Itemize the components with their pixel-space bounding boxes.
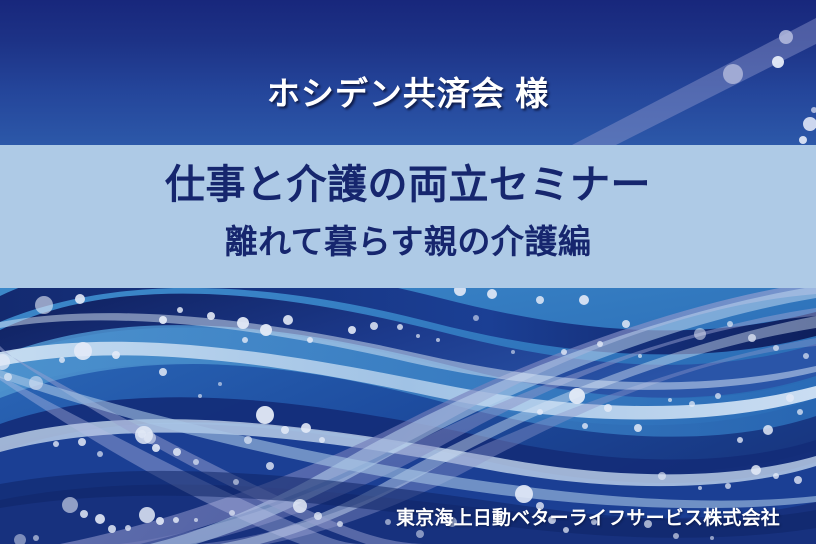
client-name: ホシデン共済会 様 bbox=[0, 77, 816, 110]
title-band: 仕事と介護の両立セミナー 離れて暮らす親の介護編 bbox=[0, 145, 816, 288]
client-banner: ホシデン共済会 様 bbox=[0, 0, 816, 145]
page-title: 仕事と介護の両立セミナー bbox=[0, 165, 816, 205]
banner-diagonal-accent bbox=[556, 0, 816, 145]
company-name: 東京海上日動ベターライフサービス株式会社 bbox=[396, 509, 780, 528]
seminar-title-slide: ホシデン共済会 様 仕事と介護の両立セミナー 離れて暮らす親の介護編 東京海上日… bbox=[0, 0, 816, 544]
page-subtitle: 離れて暮らす親の介護編 bbox=[0, 225, 816, 258]
